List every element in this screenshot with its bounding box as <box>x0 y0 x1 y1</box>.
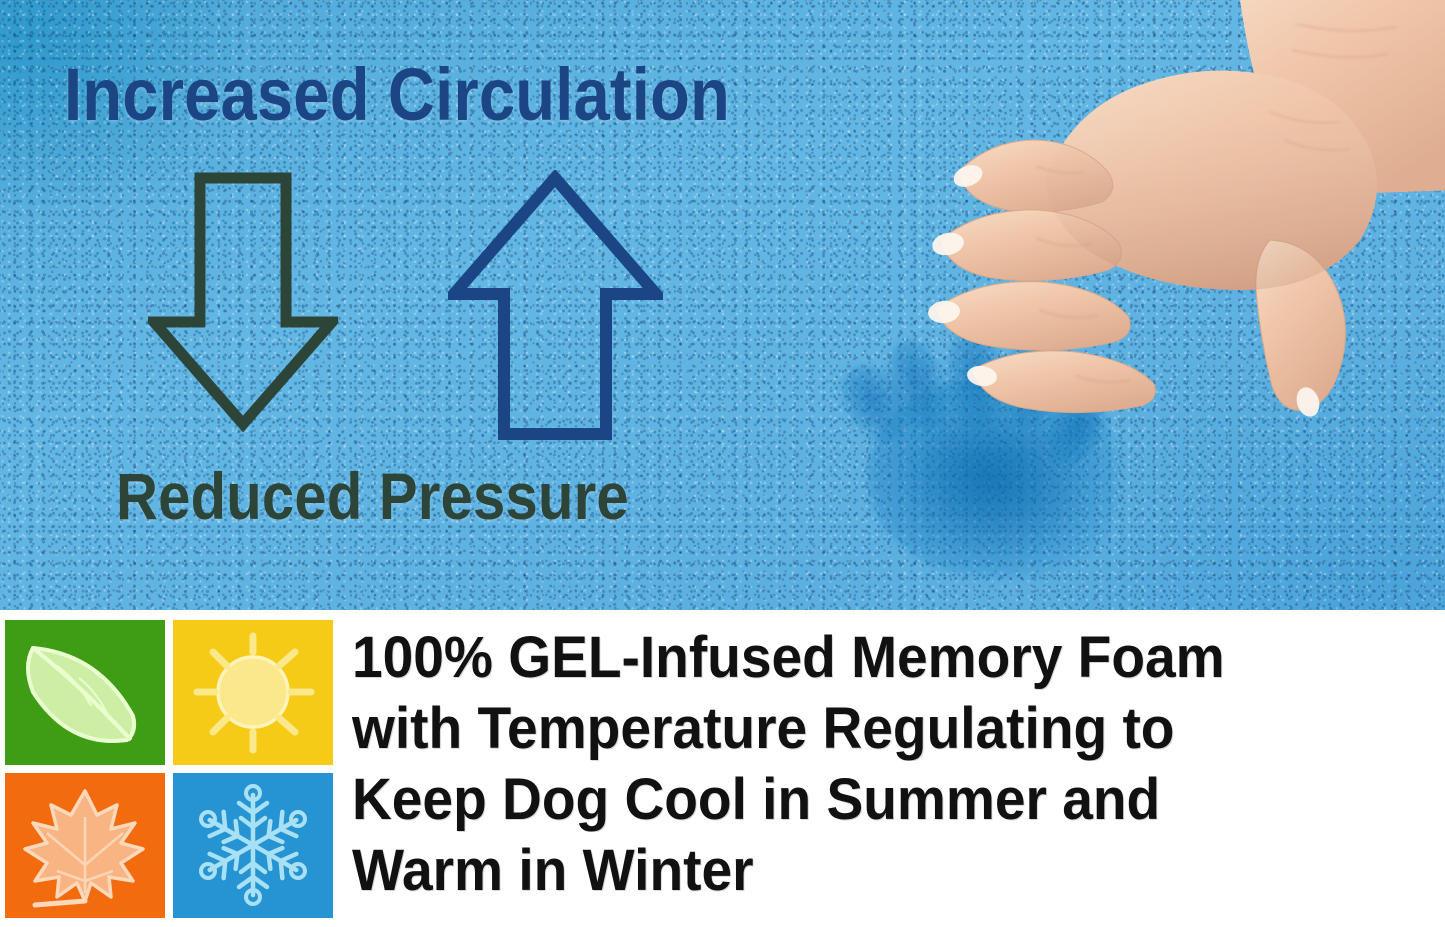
copy-line-3: Keep Dog Cool in Summer and <box>352 764 1388 835</box>
copy-line-4: Warm in Winter <box>352 835 1388 906</box>
down-arrow-icon <box>148 172 338 432</box>
season-tile-summer <box>173 620 333 765</box>
handprint-finger <box>878 332 958 440</box>
season-tile-winter <box>173 773 333 918</box>
handprint-impression <box>838 318 1238 588</box>
handprint-finger <box>942 324 1007 432</box>
season-tile-autumn <box>5 773 165 918</box>
snowflake-icon <box>173 773 333 918</box>
up-arrow-icon <box>448 170 663 442</box>
handprint-deep-shadow <box>908 410 1088 560</box>
product-info-band: 100% GEL-Infused Memory Foam with Temper… <box>0 610 1445 927</box>
handprint-finger <box>1035 384 1117 476</box>
copy-line-1: 100% GEL-Infused Memory Foam <box>352 622 1388 693</box>
handprint-palm <box>868 378 1118 578</box>
season-icon-grid <box>5 620 335 918</box>
sun-icon <box>173 620 333 765</box>
copy-line-2: with Temperature Regulating to <box>352 693 1388 764</box>
maple-leaf-icon <box>5 773 165 918</box>
season-tile-spring <box>5 620 165 765</box>
increased-circulation-label: Increased Circulation <box>64 52 730 137</box>
gel-foam-photo-panel: Increased Circulation Reduced Pressure <box>0 0 1445 610</box>
handprint-finger <box>998 329 1065 431</box>
reduced-pressure-label: Reduced Pressure <box>116 458 629 534</box>
leaf-icon <box>5 620 165 765</box>
hand-photo <box>840 0 1445 430</box>
product-description: 100% GEL-Infused Memory Foam with Temper… <box>352 622 1442 906</box>
handprint-finger <box>828 353 922 455</box>
